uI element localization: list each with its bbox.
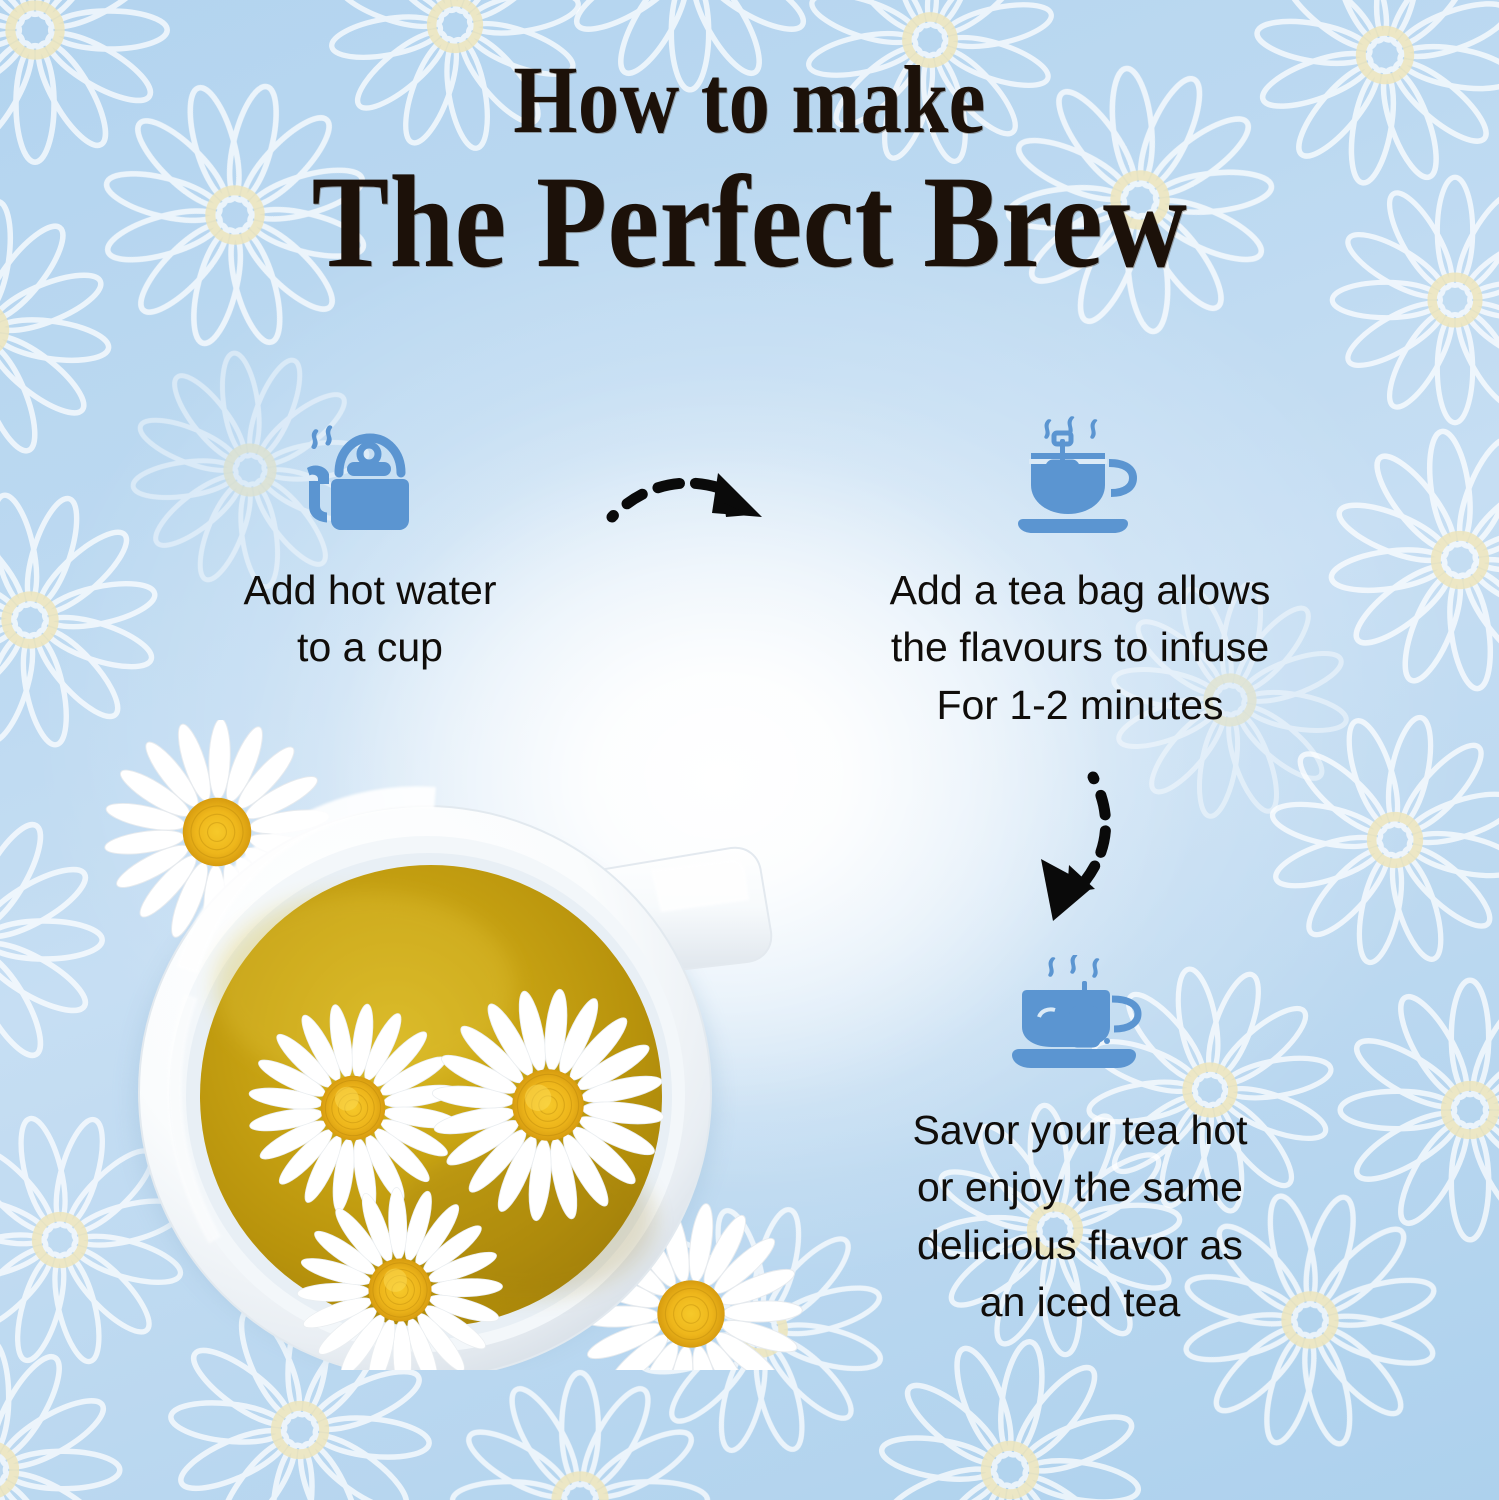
dashed-arrow-right-icon: [600, 455, 785, 560]
step-2-label: Add a tea bag allows the flavours to inf…: [820, 562, 1340, 734]
iced-tea-cup-icon: [840, 955, 1320, 1080]
infographic-poster: How to make The Perfect Brew: [0, 0, 1499, 1500]
step-add-hot-water: Add hot water to a cup: [150, 415, 590, 677]
step-1-label: Add hot water to a cup: [150, 562, 590, 677]
step-savor-tea: Savor your tea hot or enjoy the same del…: [840, 955, 1320, 1332]
teacup-with-teabag-icon: [820, 415, 1340, 540]
headline-large: The Perfect Brew: [90, 156, 1409, 288]
step-3-label: Savor your tea hot or enjoy the same del…: [840, 1102, 1320, 1332]
kettle-icon: [150, 415, 590, 540]
page-title: How to make The Perfect Brew: [0, 52, 1499, 288]
chamomile-tea-cup-photo: [95, 720, 815, 1370]
dashed-arrow-down-icon: [1015, 765, 1165, 940]
headline-small: How to make: [105, 52, 1394, 148]
step-add-tea-bag: Add a tea bag allows the flavours to inf…: [820, 415, 1340, 734]
